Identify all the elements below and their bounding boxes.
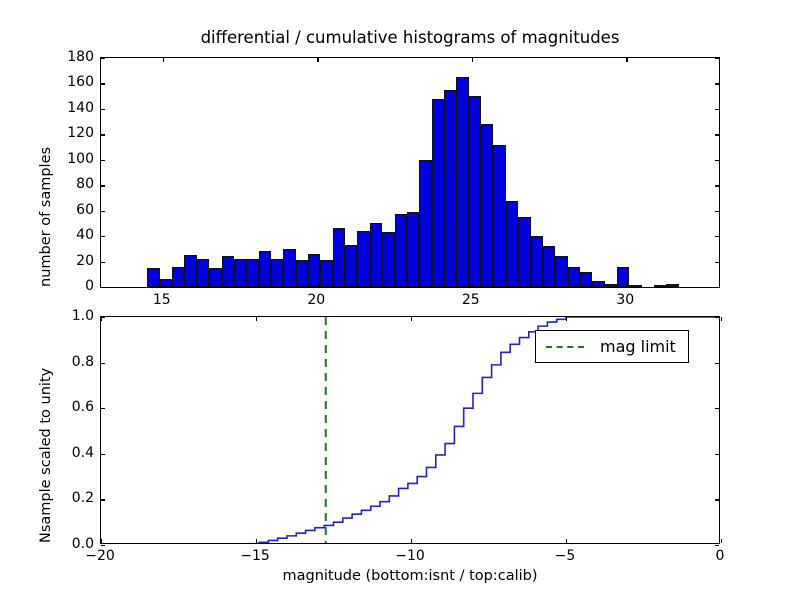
histogram-bar xyxy=(147,268,159,287)
cumulative-x-tick xyxy=(101,539,102,543)
histogram-x-tick-label: 15 xyxy=(153,292,171,308)
histogram-bar xyxy=(580,272,592,287)
histogram-bar xyxy=(654,285,666,287)
cumulative-x-tick xyxy=(566,539,567,543)
histogram-y-tick-label: 140 xyxy=(52,100,94,116)
histogram-bar xyxy=(568,267,580,287)
histogram-y-tick xyxy=(715,211,719,212)
cumulative-y-tick xyxy=(101,499,105,500)
histogram-x-tick-label: 20 xyxy=(307,292,325,308)
cumulative-y-tick xyxy=(715,317,719,318)
histogram-y-tick-label: 0 xyxy=(52,278,94,294)
cumulative-y-tick-label: 1.0 xyxy=(52,308,94,324)
cumulative-y-tick xyxy=(101,363,105,364)
cumulative-y-tick xyxy=(715,454,719,455)
histogram-bar xyxy=(333,228,345,287)
histogram-y-tick-label: 60 xyxy=(52,202,94,218)
figure-canvas: differential / cumulative histograms of … xyxy=(0,0,800,600)
histogram-y-tick xyxy=(715,287,719,288)
page-title: differential / cumulative histograms of … xyxy=(100,28,720,47)
cumulative-y-tick xyxy=(101,408,105,409)
histogram-y-tick xyxy=(715,83,719,84)
histogram-bar xyxy=(518,217,530,287)
x-axis-label: magnitude (bottom:isnt / top:calib) xyxy=(100,568,720,584)
histogram-y-tick xyxy=(101,211,105,212)
histogram-x-tick xyxy=(163,283,164,287)
histogram-x-tick xyxy=(626,283,627,287)
histogram-y-tick-label: 160 xyxy=(52,74,94,90)
cumulative-y-tick xyxy=(715,363,719,364)
histogram-y-tick-label: 20 xyxy=(52,253,94,269)
histogram-x-tick xyxy=(472,58,473,62)
histogram-bar xyxy=(209,268,221,287)
cumulative-y-tick xyxy=(715,545,719,546)
histogram-x-tick xyxy=(317,58,318,62)
histogram-y-tick xyxy=(715,185,719,186)
cumulative-x-tick xyxy=(721,317,722,321)
histogram-y-tick-label: 80 xyxy=(52,176,94,192)
histogram-bar xyxy=(320,260,332,287)
histogram-bar xyxy=(481,124,493,287)
cumulative-y-tick xyxy=(101,454,105,455)
cumulative-y-tick xyxy=(715,408,719,409)
histogram-bar xyxy=(555,256,567,287)
cumulative-x-tick xyxy=(566,317,567,321)
histogram-y-tick xyxy=(101,262,105,263)
histogram-y-tick xyxy=(101,134,105,135)
cumulative-x-tick xyxy=(411,317,412,321)
histogram-bar xyxy=(234,259,246,287)
histogram-bar xyxy=(493,145,505,287)
histogram-x-tick xyxy=(317,283,318,287)
histogram-x-tick-label: 30 xyxy=(616,292,634,308)
histogram-bar xyxy=(345,245,357,287)
cumulative-y-tick xyxy=(101,317,105,318)
histogram-bar xyxy=(184,255,196,287)
histogram-bar xyxy=(197,259,209,287)
histogram-plot-surface xyxy=(101,58,719,287)
histogram-x-tick xyxy=(626,58,627,62)
histogram-x-tick xyxy=(163,58,164,62)
histogram-bar xyxy=(407,212,419,287)
histogram-x-tick-label: 25 xyxy=(462,292,480,308)
histogram-y-tick xyxy=(101,236,105,237)
cumulative-x-tick-label: −10 xyxy=(395,548,425,564)
histogram-bar xyxy=(296,260,308,287)
legend-label-mag-limit: mag limit xyxy=(600,337,676,356)
histogram-bar xyxy=(629,285,641,287)
cumulative-y-tick-label: 0.8 xyxy=(52,354,94,370)
histogram-bar xyxy=(543,246,555,287)
histogram-axes xyxy=(100,57,720,288)
cumulative-x-tick xyxy=(411,539,412,543)
histogram-bar xyxy=(370,223,382,287)
histogram-bar xyxy=(444,90,456,287)
histogram-bar xyxy=(469,96,481,287)
cumulative-x-tick xyxy=(721,539,722,543)
histogram-y-tick xyxy=(715,134,719,135)
histogram-x-tick xyxy=(472,283,473,287)
histogram-bar xyxy=(432,99,444,287)
histogram-y-tick xyxy=(101,58,105,59)
histogram-bar xyxy=(395,214,407,287)
histogram-y-tick xyxy=(715,236,719,237)
histogram-bar xyxy=(382,232,394,287)
histogram-bar xyxy=(531,236,543,287)
cumulative-y-tick-label: 0.4 xyxy=(52,445,94,461)
histogram-bar xyxy=(419,160,431,287)
histogram-bar xyxy=(605,284,617,287)
histogram-y-tick-label: 40 xyxy=(52,227,94,243)
histogram-bar xyxy=(283,249,295,287)
histogram-y-tick xyxy=(101,160,105,161)
histogram-bar xyxy=(246,259,258,287)
cumulative-x-tick-label: −5 xyxy=(555,548,576,564)
histogram-y-tick xyxy=(715,109,719,110)
mag-limit-line-swatch xyxy=(546,346,584,348)
cumulative-x-tick-label: −15 xyxy=(240,548,270,564)
histogram-y-tick-label: 100 xyxy=(52,151,94,167)
cumulative-x-tick-label: 0 xyxy=(716,548,725,564)
histogram-y-tick-label: 180 xyxy=(52,49,94,65)
histogram-y-tick xyxy=(101,287,105,288)
histogram-bar xyxy=(506,201,518,288)
cumulative-y-tick-label: 0.2 xyxy=(52,490,94,506)
histogram-y-tick xyxy=(715,262,719,263)
histogram-y-tick-label: 120 xyxy=(52,125,94,141)
histogram-y-tick xyxy=(715,58,719,59)
histogram-bar xyxy=(222,256,234,287)
histogram-bar xyxy=(592,281,604,287)
histogram-y-tick xyxy=(101,83,105,84)
histogram-bar xyxy=(271,259,283,287)
histogram-y-tick xyxy=(101,109,105,110)
histogram-bar xyxy=(357,231,369,287)
legend[interactable]: mag limit xyxy=(535,330,689,363)
histogram-y-tick xyxy=(101,185,105,186)
histogram-bar xyxy=(172,267,184,287)
histogram-bar xyxy=(456,77,468,287)
cumulative-y-tick xyxy=(715,499,719,500)
cumulative-y-tick-label: 0.0 xyxy=(52,536,94,552)
histogram-bar xyxy=(160,279,172,287)
histogram-bar xyxy=(259,251,271,287)
histogram-bar xyxy=(666,284,678,287)
cumulative-x-tick xyxy=(256,539,257,543)
cumulative-y-tick-label: 0.6 xyxy=(52,399,94,415)
histogram-y-tick xyxy=(715,160,719,161)
cumulative-y-tick xyxy=(101,545,105,546)
cumulative-x-tick xyxy=(256,317,257,321)
